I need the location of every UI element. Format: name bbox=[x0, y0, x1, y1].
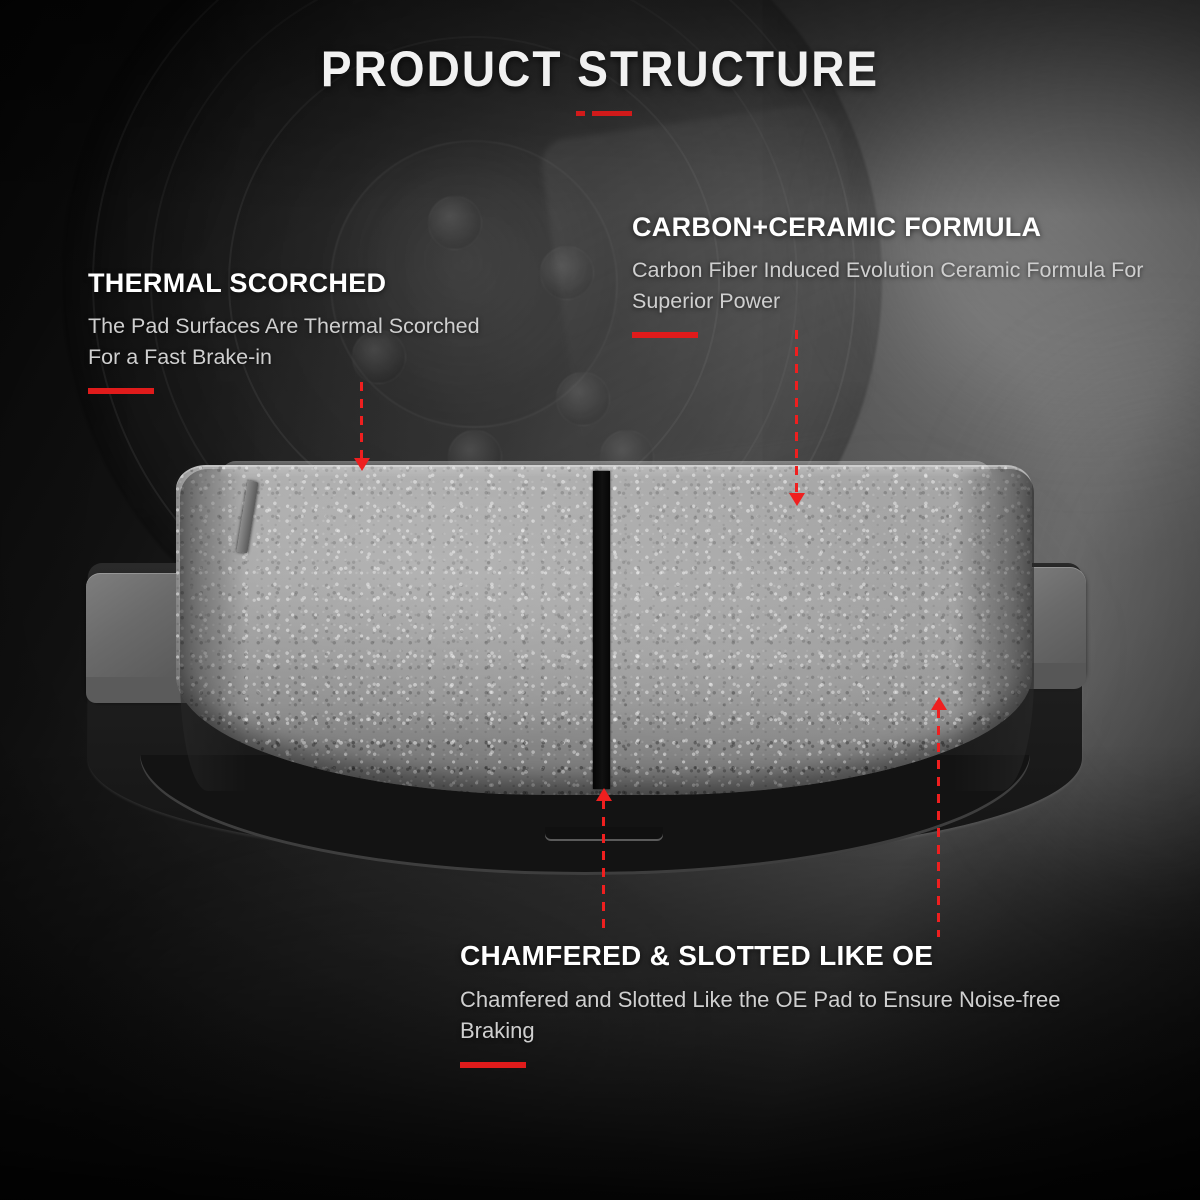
leader-dash-chamfer-edge bbox=[937, 709, 940, 937]
callout-thermal-heading: THERMAL SCORCHED bbox=[88, 268, 508, 299]
arrow-down-icon bbox=[354, 458, 370, 471]
title-accent-rule bbox=[576, 111, 632, 116]
callout-carbon-body: Carbon Fiber Induced Evolution Ceramic F… bbox=[632, 255, 1180, 316]
title-accent-dash-short bbox=[576, 111, 585, 116]
callout-carbon-ceramic-formula: CARBON+CERAMIC FORMULA Carbon Fiber Indu… bbox=[632, 212, 1180, 338]
pad-chamfer-right bbox=[942, 469, 1034, 791]
arrow-down-icon bbox=[789, 493, 805, 506]
product-structure-infographic: PRODUCT STRUCTURE bbox=[0, 0, 1200, 1200]
page-title: PRODUCT STRUCTURE bbox=[48, 40, 1152, 98]
callout-chamfered-slotted: CHAMFERED & SLOTTED LIKE OE Chamfered an… bbox=[460, 940, 1080, 1068]
title-accent-dash-long bbox=[592, 111, 632, 116]
callout-thermal-accent-rule bbox=[88, 388, 154, 394]
callout-carbon-heading: CARBON+CERAMIC FORMULA bbox=[632, 212, 1180, 243]
leader-dash-carbon bbox=[795, 330, 798, 495]
leader-dash-chamfer-slot bbox=[602, 800, 605, 936]
callout-chamfer-accent-rule bbox=[460, 1062, 526, 1068]
callout-thermal-scorched: THERMAL SCORCHED The Pad Surfaces Are Th… bbox=[88, 268, 508, 394]
callout-thermal-body: The Pad Surfaces Are Thermal Scorched Fo… bbox=[88, 311, 508, 372]
callout-carbon-accent-rule bbox=[632, 332, 698, 338]
pad-center-slot bbox=[593, 471, 610, 789]
callout-chamfer-body: Chamfered and Slotted Like the OE Pad to… bbox=[460, 984, 1080, 1046]
callout-chamfer-heading: CHAMFERED & SLOTTED LIKE OE bbox=[460, 940, 1080, 972]
